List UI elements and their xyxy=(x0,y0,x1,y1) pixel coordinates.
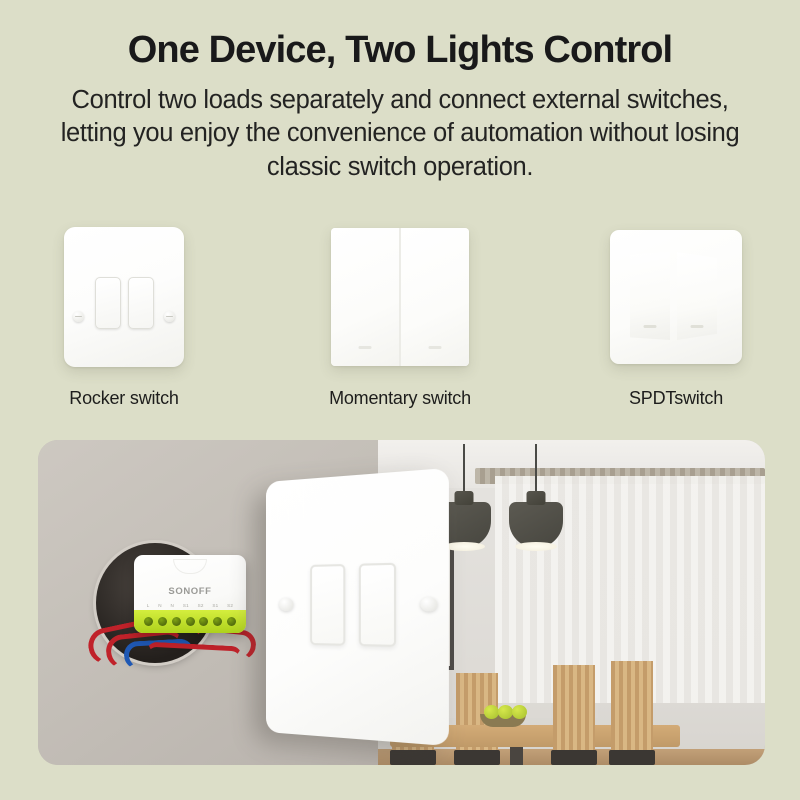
header: One Device, Two Lights Control Control t… xyxy=(0,0,800,184)
indicator-mark-icon xyxy=(644,325,657,328)
terminal-hole xyxy=(227,617,236,626)
dining-chair xyxy=(553,665,595,765)
chair-seat xyxy=(454,750,500,765)
switch-type-rocker: Rocker switch xyxy=(39,222,209,410)
page-subtitle: Control two loads separately and connect… xyxy=(0,84,800,183)
terminal-label: N xyxy=(158,603,162,608)
terminal-label: S2 xyxy=(198,603,204,608)
terminal-hole xyxy=(144,617,153,626)
lamp-glow xyxy=(515,542,557,551)
terminal-label: S1 xyxy=(212,603,218,608)
terminal-hole xyxy=(199,617,208,626)
switch-type-row: Rocker switch Momentary switch xyxy=(0,222,800,410)
switch-type-momentary: Momentary switch xyxy=(315,222,485,410)
terminal-hole xyxy=(172,617,181,626)
wall-switch-faceplate xyxy=(266,468,449,746)
indicator-mark-icon xyxy=(691,325,704,328)
rocker-button xyxy=(95,277,121,329)
screw-icon xyxy=(279,598,293,611)
terminal-hole xyxy=(186,617,195,626)
terminal-block xyxy=(134,610,246,633)
dining-chair xyxy=(611,661,653,765)
indicator-mark-icon xyxy=(358,346,371,349)
chair-seat xyxy=(390,750,436,765)
sonoff-brand-label: SONOFF xyxy=(134,586,246,597)
terminal-hole xyxy=(213,617,222,626)
lamp-glow xyxy=(443,542,485,551)
terminal-label: S2 xyxy=(227,603,233,608)
faceplate-rocker-button xyxy=(310,564,345,646)
switch-type-label: Momentary switch xyxy=(329,386,471,410)
switch-type-spdt: SPDTswitch xyxy=(591,222,761,410)
switch-type-label: SPDTswitch xyxy=(629,386,723,410)
rocker-switch-icon xyxy=(64,222,184,372)
momentary-pane xyxy=(401,228,469,366)
product-installation-photo: SONOFF L N N S1 S2 S1 S2 xyxy=(38,440,765,765)
apple xyxy=(512,705,527,719)
terminal-label: N xyxy=(171,603,175,608)
sonoff-smart-switch-module: SONOFF L N N S1 S2 S1 S2 xyxy=(134,555,246,633)
momentary-switch-icon xyxy=(331,222,469,372)
terminal-label: S1 xyxy=(183,603,189,608)
switch-type-label: Rocker switch xyxy=(69,386,178,410)
installation-wall: SONOFF L N N S1 S2 S1 S2 xyxy=(38,440,378,765)
spdt-paddle xyxy=(630,252,670,340)
chair-seat xyxy=(609,750,655,765)
screw-icon xyxy=(164,311,175,322)
apple xyxy=(484,705,499,719)
terminal-hole xyxy=(158,617,167,626)
screw-icon xyxy=(73,311,84,322)
apple xyxy=(498,705,513,719)
spdt-switch-icon xyxy=(610,222,742,372)
indicator-mark-icon xyxy=(429,346,442,349)
page-title: One Device, Two Lights Control xyxy=(0,30,800,70)
spdt-paddle xyxy=(677,252,717,340)
terminal-label: L xyxy=(147,603,150,608)
rocker-button xyxy=(128,277,154,329)
momentary-pane xyxy=(331,228,399,366)
faceplate-rocker-button xyxy=(359,563,396,647)
screw-icon xyxy=(420,597,437,611)
module-notch xyxy=(173,559,207,574)
chair-seat xyxy=(551,750,597,765)
terminal-labels: L N N S1 S2 S1 S2 xyxy=(138,601,242,610)
